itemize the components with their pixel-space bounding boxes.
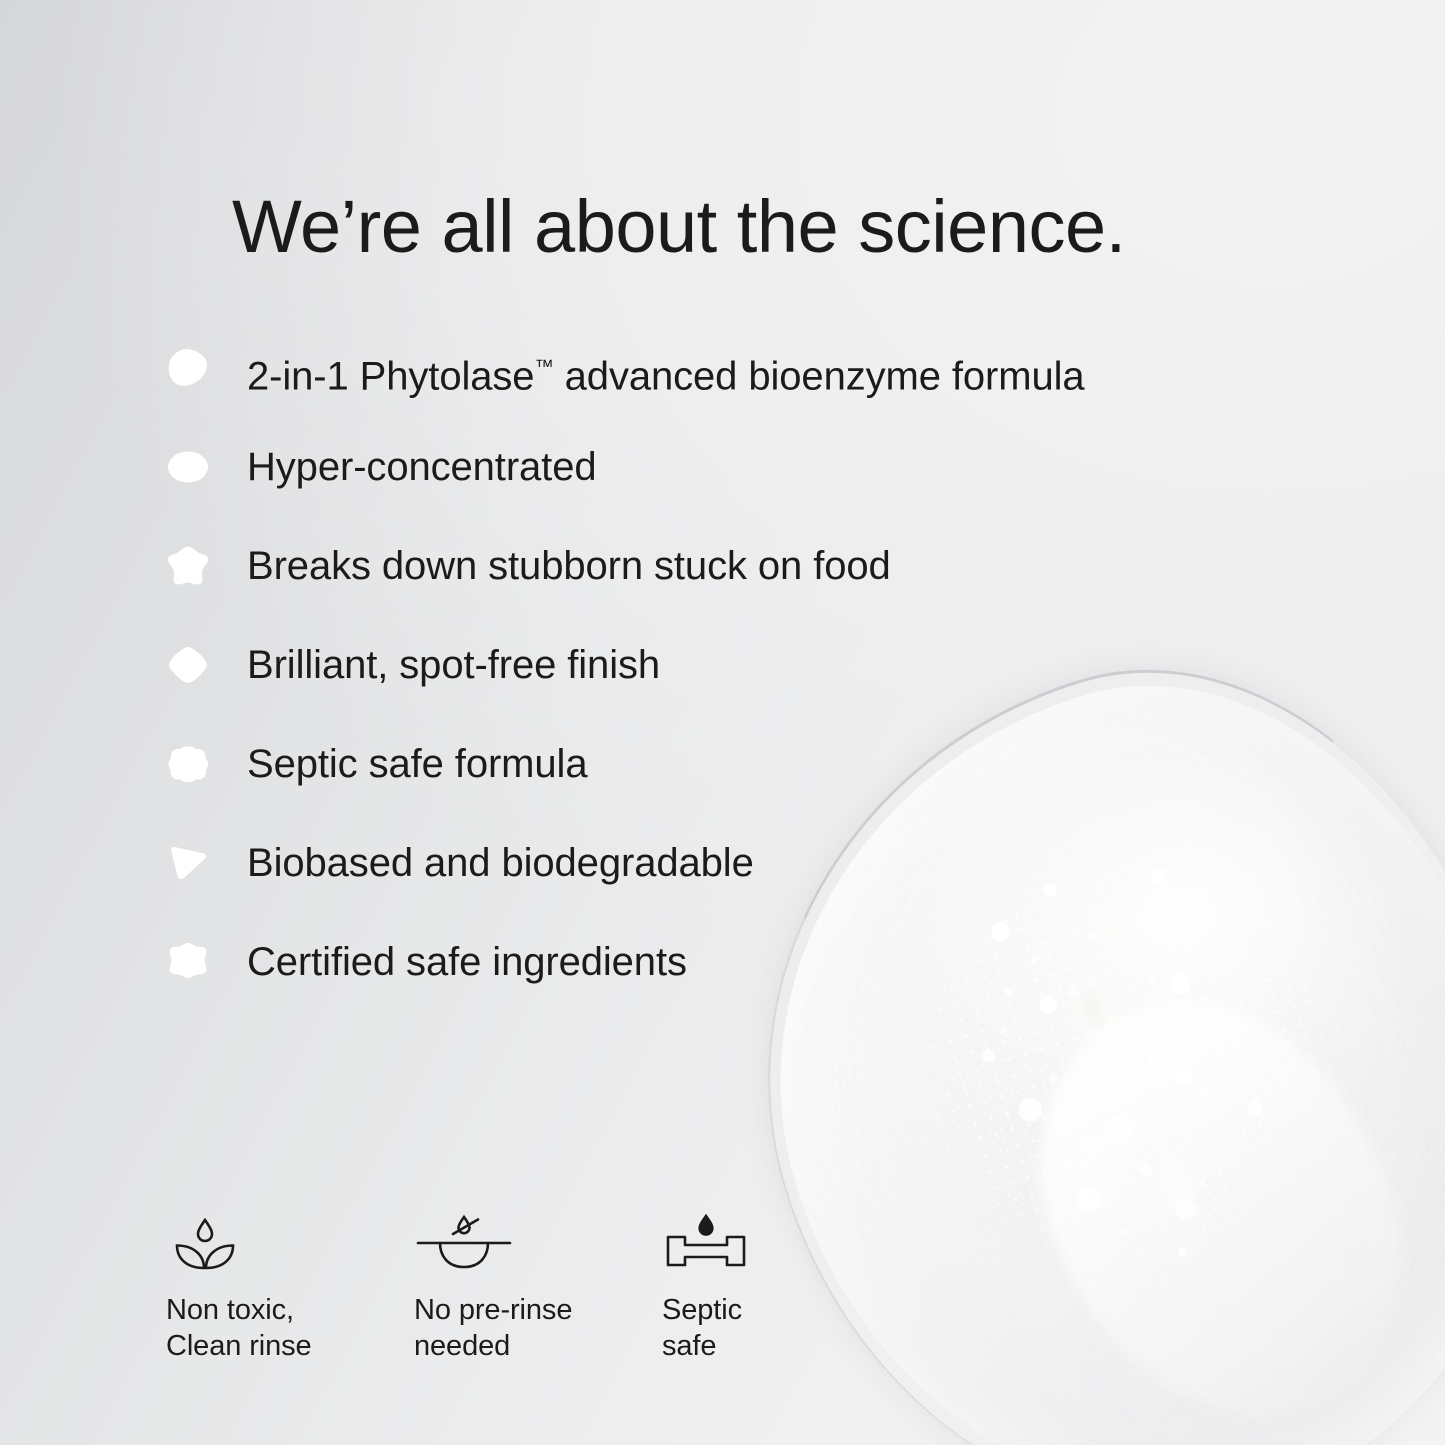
list-item-label: Brilliant, spot-free finish <box>247 637 660 693</box>
list-item-label: Breaks down stubborn stuck on food <box>247 538 891 594</box>
list-item-label: Septic safe formula <box>247 736 587 792</box>
blob-ellipse-bullet-icon <box>166 445 210 489</box>
blob-diamond-bullet-icon <box>166 643 210 687</box>
list-item: Breaks down stubborn stuck on food <box>160 538 1280 637</box>
blob-scallop-bullet-icon <box>166 940 210 984</box>
list-item: 2-in-1 Phytolase™ advanced bioenzyme for… <box>160 340 1280 439</box>
blob-star-bullet-icon <box>166 544 210 588</box>
blob-triangle-bullet-icon <box>166 841 210 885</box>
certification-badges: Non toxic, Clean rinse No pre-rinse need… <box>166 1196 910 1364</box>
badge-non-toxic: Non toxic, Clean rinse <box>166 1196 414 1364</box>
list-item-label: Certified safe ingredients <box>247 934 687 990</box>
badge-septic-safe: Septic safe <box>662 1196 910 1364</box>
bowl-no-rinse-icon <box>414 1196 662 1274</box>
list-item-label: Biobased and biodegradable <box>247 835 754 891</box>
blob-cloud-bullet-icon <box>166 742 210 786</box>
leaf-droplet-icon <box>166 1196 414 1274</box>
list-item: Septic safe formula <box>160 736 1280 835</box>
list-item: Biobased and biodegradable <box>160 835 1280 934</box>
product-feature-poster: We’re all about the science. 2-in-1 Phyt… <box>0 0 1445 1445</box>
feature-list: 2-in-1 Phytolase™ advanced bioenzyme for… <box>160 340 1280 1033</box>
list-item: Certified safe ingredients <box>160 934 1280 1033</box>
badge-label: Non toxic, Clean rinse <box>166 1292 414 1364</box>
badge-label: No pre-rinse needed <box>414 1292 662 1364</box>
blob-pentagon-bullet-icon <box>166 346 210 390</box>
list-item: Hyper-concentrated <box>160 439 1280 538</box>
pipe-droplet-icon <box>662 1196 910 1274</box>
badge-label: Septic safe <box>662 1292 910 1364</box>
list-item-label: 2-in-1 Phytolase™ advanced bioenzyme for… <box>247 340 1085 404</box>
badge-no-pre-rinse: No pre-rinse needed <box>414 1196 662 1364</box>
page-title: We’re all about the science. <box>232 190 1332 264</box>
list-item-label: Hyper-concentrated <box>247 439 597 495</box>
list-item: Brilliant, spot-free finish <box>160 637 1280 736</box>
